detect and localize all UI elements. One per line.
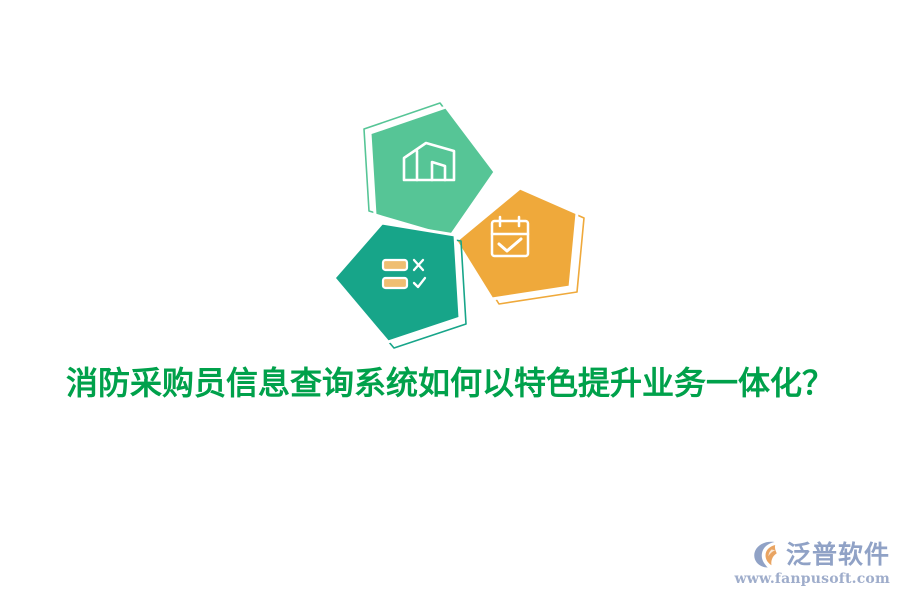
page-headline: 消防采购员信息查询系统如何以特色提升业务一体化？	[0, 360, 900, 406]
brand-name: 泛普软件	[786, 542, 890, 567]
fanpu-logo-icon	[752, 539, 782, 569]
pentagon-cluster-graphic	[320, 90, 600, 350]
brand-row: 泛普软件	[752, 539, 890, 569]
brand-watermark: 泛普软件 www.fanpusoft.com	[734, 539, 890, 586]
pentagon-calendar	[456, 188, 584, 304]
pentagon-checklist	[334, 223, 466, 348]
brand-url: www.fanpusoft.com	[734, 572, 890, 586]
pentagon-building	[364, 103, 495, 237]
checklist-bar-bottom	[383, 278, 407, 288]
page-canvas: 消防采购员信息查询系统如何以特色提升业务一体化？ 泛普软件 www.fanpus…	[0, 0, 900, 600]
checklist-bar-top	[383, 260, 407, 270]
